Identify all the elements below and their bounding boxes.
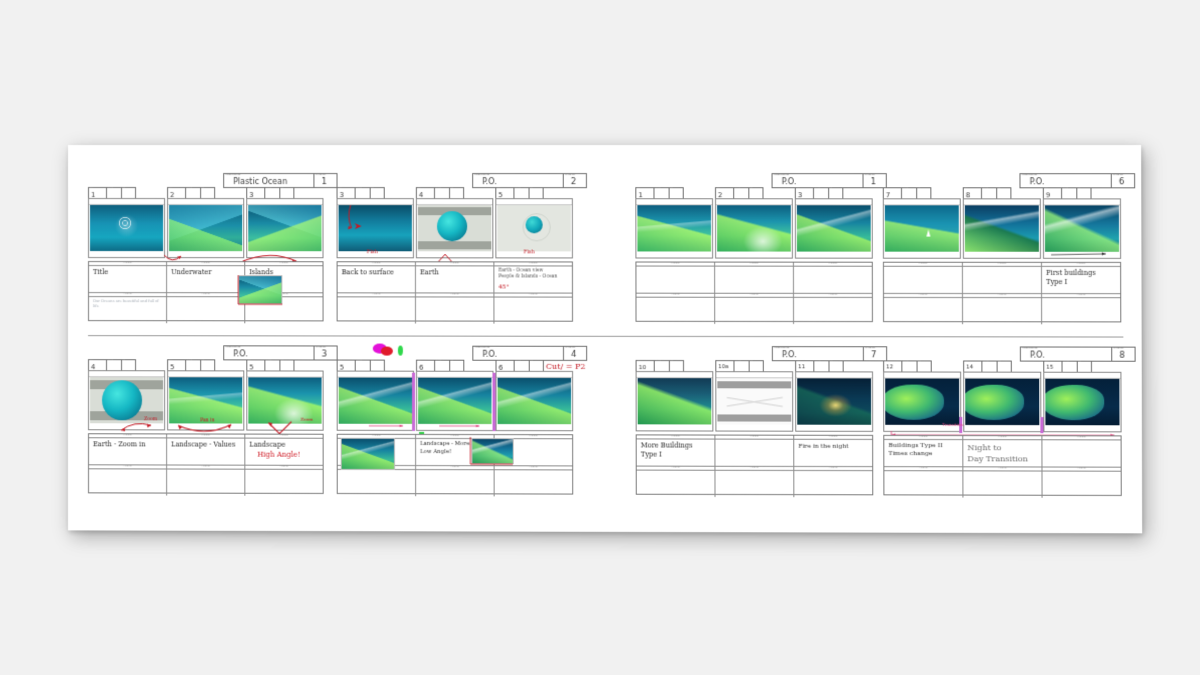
storyboard-panel[interactable] bbox=[88, 198, 165, 258]
audio-label: AUDIO bbox=[998, 467, 1007, 469]
video-note: More Buildings Type I bbox=[641, 441, 712, 459]
production-value: P.O. bbox=[482, 177, 497, 186]
annotation-label: Zoom bbox=[144, 417, 157, 422]
bg-label: BG bbox=[281, 361, 284, 363]
audio-label: AUDIO bbox=[919, 294, 928, 296]
video-label: VIDEO bbox=[372, 262, 381, 264]
video-label: VIDEO bbox=[829, 436, 838, 438]
board-header[interactable]: PRODUCTIONP.O. PAGE No.4 bbox=[472, 346, 587, 361]
storyboard-panel[interactable] bbox=[416, 371, 494, 431]
bg-label: BG bbox=[202, 361, 205, 363]
page-value: 3 bbox=[322, 349, 327, 359]
take-label: TAKE bbox=[735, 188, 740, 190]
storyboard-panel[interactable] bbox=[635, 198, 713, 258]
take-label: TAKE bbox=[903, 188, 908, 190]
audio-label: AUDIO bbox=[1077, 467, 1086, 469]
video-label: VIDEO bbox=[1077, 263, 1086, 265]
take-label: TAKE bbox=[656, 188, 661, 190]
pasted-thumbnail[interactable] bbox=[238, 275, 282, 304]
bg-label: BG bbox=[830, 361, 833, 363]
audio-label: AUDIO bbox=[123, 293, 132, 295]
audio-label: AUDIO bbox=[280, 466, 289, 468]
take-label: TAKE bbox=[736, 361, 741, 363]
page-value: 2 bbox=[571, 177, 576, 187]
video-label: VIDEO bbox=[201, 262, 210, 264]
storyboard-panel[interactable] bbox=[246, 198, 323, 258]
bg-label: BG bbox=[451, 188, 454, 190]
bg-label: BG bbox=[670, 361, 673, 363]
video-note: Earth bbox=[420, 268, 490, 277]
audio-label: AUDIO bbox=[750, 467, 759, 469]
row-divider bbox=[88, 335, 1123, 337]
video-label: VIDEO bbox=[529, 262, 538, 264]
video-label: VIDEO bbox=[998, 263, 1007, 265]
video-label: VIDEO bbox=[201, 434, 210, 436]
board-header[interactable]: PRODUCTIONP.O. PAGE No.8 bbox=[1020, 346, 1136, 361]
video-label: VIDEO bbox=[750, 262, 759, 264]
video-note: Underwater bbox=[171, 268, 241, 277]
bg-label: BG bbox=[123, 360, 126, 362]
notes-table[interactable]: VIDEO Title VIDEO Underwater VIDEO Islan… bbox=[88, 261, 324, 321]
board-header[interactable]: PRODUCTIONP.O. PAGE No.3 bbox=[223, 345, 337, 360]
video-note: Earth - Ocean view People & Islands - Oc… bbox=[498, 268, 569, 280]
take-label: TAKE bbox=[187, 188, 192, 190]
board-header[interactable]: PRODUCTIONP.O. PAGE No.6 bbox=[1019, 173, 1135, 188]
audio-label: AUDIO bbox=[919, 467, 928, 469]
take-label: TAKE bbox=[187, 360, 192, 362]
audio-label: AUDIO bbox=[671, 294, 680, 296]
notes-table[interactable]: VIDEO VIDEO VIDEO AUDIO AUDIO AUDIO bbox=[635, 262, 872, 323]
panel-artwork bbox=[418, 205, 491, 251]
panel-artwork bbox=[885, 378, 959, 424]
audio-label: AUDIO bbox=[828, 294, 837, 296]
panel-artwork bbox=[339, 205, 412, 251]
panel-artwork bbox=[339, 378, 412, 424]
audio-label: AUDIO bbox=[201, 293, 210, 295]
production-value: Plastic Ocean bbox=[233, 177, 287, 186]
bg-label: BG bbox=[830, 188, 833, 190]
audio-label: AUDIO bbox=[201, 465, 210, 467]
video-note: Landscape - Values bbox=[171, 440, 241, 449]
video-label: VIDEO bbox=[280, 262, 289, 264]
bg-label: BG bbox=[202, 188, 205, 190]
video-note: Landscape bbox=[249, 441, 319, 450]
board-header[interactable]: PRODUCTIONP.O. PAGE No.2 bbox=[472, 173, 587, 188]
bg-label: BG bbox=[530, 361, 533, 363]
scene-number: 14 bbox=[966, 364, 973, 370]
video-note: Earth - Zoom in bbox=[93, 440, 163, 449]
bg-label: BG bbox=[750, 361, 753, 363]
annotation-transition-label: Transition bbox=[942, 422, 963, 427]
panel-artwork bbox=[169, 377, 242, 423]
annotation-high-angle: High Angle! bbox=[257, 451, 319, 460]
storyboard-panel[interactable] bbox=[416, 198, 493, 258]
audio-label: AUDIO bbox=[450, 466, 459, 468]
video-label: VIDEO bbox=[750, 435, 759, 437]
highlighter-blob-green bbox=[398, 346, 403, 356]
video-label: VIDEO bbox=[123, 434, 132, 436]
pasted-thumbnail[interactable] bbox=[471, 438, 513, 464]
audio-label: AUDIO bbox=[123, 465, 132, 467]
notes-table[interactable]: VIDEO VIDEO VIDEOFirst buildings Type I … bbox=[883, 262, 1121, 323]
take-label: TAKE bbox=[436, 361, 441, 363]
panel-artwork bbox=[169, 205, 242, 251]
take-label: TAKE bbox=[1063, 189, 1068, 191]
board-header[interactable]: PRODUCTIONP.O. PAGE No.1 bbox=[772, 173, 887, 188]
production-value: P.O. bbox=[482, 350, 497, 359]
page-value: 7 bbox=[871, 350, 877, 360]
take-label: TAKE bbox=[108, 188, 113, 190]
bg-label: BG bbox=[918, 188, 921, 190]
scene-number: 10a bbox=[718, 364, 728, 370]
video-note: Back to surface bbox=[342, 268, 412, 277]
video-label: VIDEO bbox=[372, 435, 381, 437]
panel-artwork bbox=[90, 205, 163, 251]
scene-number: 11 bbox=[798, 364, 805, 370]
video-label: VIDEO bbox=[919, 436, 928, 438]
annotation-cut-label: Cut/ = P2 bbox=[546, 362, 586, 371]
video-note: Buildings Type II Times change bbox=[888, 442, 959, 458]
storyboard-panel[interactable] bbox=[963, 198, 1041, 258]
take-label: TAKE bbox=[267, 188, 272, 190]
panel-artwork bbox=[248, 205, 321, 251]
storyboard-panel[interactable] bbox=[636, 371, 714, 431]
bg-label: BG bbox=[918, 362, 921, 364]
bg-label: BG bbox=[123, 188, 126, 190]
page-value: 8 bbox=[1119, 350, 1125, 360]
panel-artwork bbox=[965, 379, 1039, 426]
bg-label: BG bbox=[1078, 189, 1081, 191]
audio-note: Our Oceans are beautiful and full of lif… bbox=[93, 299, 163, 309]
storyboard-panel[interactable] bbox=[337, 371, 414, 431]
pasted-thumbnail[interactable] bbox=[341, 438, 395, 470]
production-value: P.O. bbox=[1030, 350, 1045, 359]
storyboard-panel[interactable] bbox=[496, 371, 574, 431]
page-value: 1 bbox=[321, 177, 326, 187]
take-label: TAKE bbox=[516, 361, 521, 363]
storyboard-sheet: PRODUCTIONPlastic Ocean PAGE No.1 SC.1 T… bbox=[68, 145, 1142, 533]
audio-label: AUDIO bbox=[450, 293, 459, 295]
storyboard-panel[interactable] bbox=[795, 371, 873, 432]
video-label: VIDEO bbox=[1077, 436, 1086, 438]
annotation-label: Pan in bbox=[200, 418, 215, 423]
storyboard-panel[interactable] bbox=[715, 371, 793, 432]
take-label: TAKE bbox=[984, 362, 989, 364]
audio-label: AUDIO bbox=[671, 466, 680, 468]
bg-label: BG bbox=[451, 361, 454, 363]
storyboard-panel[interactable] bbox=[883, 198, 961, 258]
video-label: VIDEO bbox=[998, 436, 1007, 438]
panel-artwork bbox=[797, 378, 871, 424]
video-label: VIDEO bbox=[450, 262, 459, 264]
audio-label: AUDIO bbox=[372, 293, 381, 295]
bg-label: BG bbox=[371, 361, 374, 363]
panel-artwork bbox=[797, 205, 871, 251]
audio-label: AUDIO bbox=[529, 466, 538, 468]
panel-artwork bbox=[418, 378, 491, 424]
page-value: 4 bbox=[571, 350, 576, 360]
notes-table[interactable]: VIDEOMore Buildings Type I VIDEO VIDEOFi… bbox=[636, 434, 874, 495]
video-note: Title bbox=[93, 268, 163, 277]
video-note: Night to Day Transition bbox=[967, 442, 1038, 464]
take-label: TAKE bbox=[108, 360, 113, 362]
bg-label: BG bbox=[670, 188, 673, 190]
bg-label: BG bbox=[281, 188, 284, 190]
audio-label: AUDIO bbox=[529, 293, 538, 295]
notes-table[interactable]: VIDEOBuildings Type II Times change VIDE… bbox=[883, 435, 1121, 496]
take-label: TAKE bbox=[904, 362, 909, 364]
video-note: Fire in the night bbox=[798, 442, 869, 451]
bg-label: BG bbox=[998, 362, 1001, 364]
bg-label: BG bbox=[750, 188, 753, 190]
panel-artwork bbox=[638, 378, 712, 424]
panel-artwork bbox=[637, 205, 711, 251]
panel-artwork bbox=[1045, 205, 1119, 251]
take-label: TAKE bbox=[357, 361, 362, 363]
scene-number: 10 bbox=[639, 364, 647, 371]
notes-table[interactable]: VIDEOEarth - Zoom in VIDEOLandscape - Va… bbox=[88, 433, 324, 494]
annotation-label: Fish bbox=[524, 249, 535, 255]
storyboard-panel[interactable] bbox=[715, 198, 793, 258]
audio-label: AUDIO bbox=[829, 467, 838, 469]
panel-artwork bbox=[717, 205, 791, 251]
video-label: VIDEO bbox=[919, 263, 928, 265]
bg-label: BG bbox=[998, 188, 1001, 190]
annotation-label: Fish bbox=[367, 249, 378, 255]
storyboard-panel[interactable] bbox=[167, 198, 244, 258]
storyboard-panel[interactable] bbox=[1043, 198, 1121, 259]
take-label: TAKE bbox=[656, 361, 661, 363]
take-label: TAKE bbox=[436, 188, 441, 190]
storyboard-panel[interactable] bbox=[963, 372, 1041, 433]
take-label: TAKE bbox=[357, 188, 362, 190]
video-label: VIDEO bbox=[671, 435, 680, 437]
take-label: TAKE bbox=[983, 188, 988, 190]
video-label: VIDEO bbox=[450, 435, 459, 437]
highlighter-blob-red bbox=[381, 347, 393, 356]
video-label: VIDEO bbox=[123, 262, 132, 264]
board-header[interactable]: PRODUCTIONPlastic Ocean PAGE No.1 bbox=[223, 173, 337, 188]
bg-label: BG bbox=[371, 188, 374, 190]
video-label: VIDEO bbox=[671, 262, 680, 264]
page-value: 6 bbox=[1119, 177, 1125, 187]
panel-artwork bbox=[885, 205, 959, 251]
production-value: P.O. bbox=[782, 350, 797, 359]
production-value: P.O. bbox=[782, 177, 797, 186]
bg-label: BG bbox=[1078, 362, 1081, 364]
bg-label: BG bbox=[530, 188, 533, 190]
annotation-angle: 45° bbox=[498, 283, 509, 290]
video-label: VIDEO bbox=[280, 434, 289, 436]
video-note: First buildings Type I bbox=[1046, 269, 1117, 287]
scene-number: 15 bbox=[1046, 364, 1053, 370]
video-label: VIDEO bbox=[828, 262, 837, 264]
production-value: P.O. bbox=[1030, 177, 1045, 186]
take-label: TAKE bbox=[516, 188, 521, 190]
audio-label: AUDIO bbox=[998, 294, 1007, 296]
panel-artwork bbox=[1045, 379, 1119, 426]
take-label: TAKE bbox=[816, 361, 821, 363]
scene-number: 12 bbox=[886, 364, 893, 370]
take-label: TAKE bbox=[1064, 362, 1069, 364]
take-label: TAKE bbox=[267, 361, 272, 363]
audio-label: AUDIO bbox=[750, 294, 759, 296]
board-header[interactable]: PRODUCTIONP.O. PAGE No.7 bbox=[772, 346, 887, 361]
production-value: P.O. bbox=[233, 349, 248, 358]
storyboard-panel[interactable] bbox=[795, 198, 873, 258]
take-label: TAKE bbox=[815, 188, 820, 190]
panel-artwork bbox=[965, 205, 1039, 251]
page-value: 1 bbox=[871, 177, 877, 187]
panel-artwork bbox=[497, 205, 571, 251]
storyboard-panel[interactable] bbox=[1043, 372, 1121, 433]
panel-artwork bbox=[717, 378, 791, 424]
panel-artwork bbox=[498, 378, 572, 424]
notes-table[interactable]: VIDEOBack to surface VIDEOEarth VIDEOEar… bbox=[337, 261, 573, 321]
video-label: VIDEO bbox=[529, 435, 538, 437]
annotation-label: Zoom bbox=[301, 418, 314, 423]
audio-label: AUDIO bbox=[1077, 294, 1086, 296]
